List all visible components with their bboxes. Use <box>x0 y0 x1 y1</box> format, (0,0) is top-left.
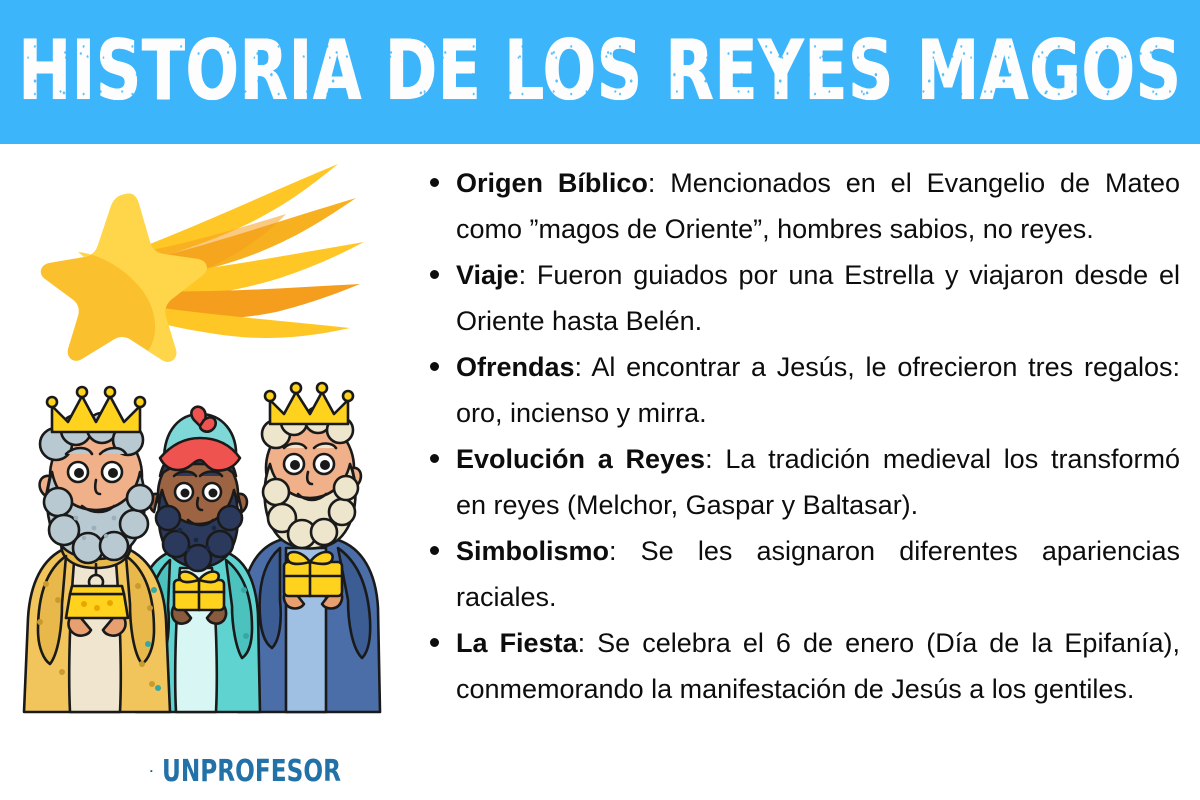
graduation-cap-icon <box>150 757 153 785</box>
fact-separator: : <box>705 444 725 474</box>
king-left <box>24 387 170 712</box>
fact-separator: : <box>609 536 641 566</box>
fact-term: Ofrendas <box>456 352 575 382</box>
list-item: Viaje: Fueron guiados por una Estrella y… <box>424 252 1180 344</box>
bullet-marker <box>430 270 439 279</box>
fact-term: Viaje <box>456 260 519 290</box>
page-title: HISTORIA DE LOS REYES MAGOS <box>18 31 1181 114</box>
list-item: Origen Bíblico: Mencionados en el Evange… <box>424 160 1180 252</box>
fact-term: La Fiesta <box>456 628 578 658</box>
list-item: Ofrendas: Al encontrar a Jesús, le ofrec… <box>424 344 1180 436</box>
fact-separator: : <box>575 352 592 382</box>
fact-separator: : <box>648 168 670 198</box>
fact-separator: : <box>578 628 598 658</box>
list-item: La Fiesta: Se celebra el 6 de enero (Día… <box>424 620 1180 712</box>
list-item: Evolución a Reyes: La tradición medieval… <box>424 436 1180 528</box>
fact-separator: : <box>519 260 537 290</box>
three-kings-illustration <box>18 372 408 732</box>
bullet-marker <box>430 178 439 187</box>
bullet-marker <box>430 546 439 555</box>
bullet-marker <box>430 638 439 647</box>
brand-logo[interactable]: UNPROFESOR <box>150 750 370 792</box>
bullet-marker <box>430 454 439 463</box>
star-shape <box>41 194 207 362</box>
fact-description: Fueron guiados por una Estrella y viajar… <box>456 260 1180 336</box>
shooting-star-illustration <box>38 158 368 368</box>
header-banner: HISTORIA DE LOS REYES MAGOS <box>0 0 1200 144</box>
bullet-marker <box>430 362 439 371</box>
facts-list: Origen Bíblico: Mencionados en el Evange… <box>424 160 1180 712</box>
illustration-column: UNPROFESOR <box>0 144 410 800</box>
fact-term: Origen Bíblico <box>456 168 648 198</box>
content-area: UNPROFESOR Origen Bíblico: Mencionados e… <box>0 144 1200 800</box>
logo-wordmark: UNPROFESOR <box>162 756 341 786</box>
fact-term: Simbolismo <box>456 536 609 566</box>
fact-term: Evolución a Reyes <box>456 444 705 474</box>
list-item: Simbolismo: Se les asignaron diferentes … <box>424 528 1180 620</box>
